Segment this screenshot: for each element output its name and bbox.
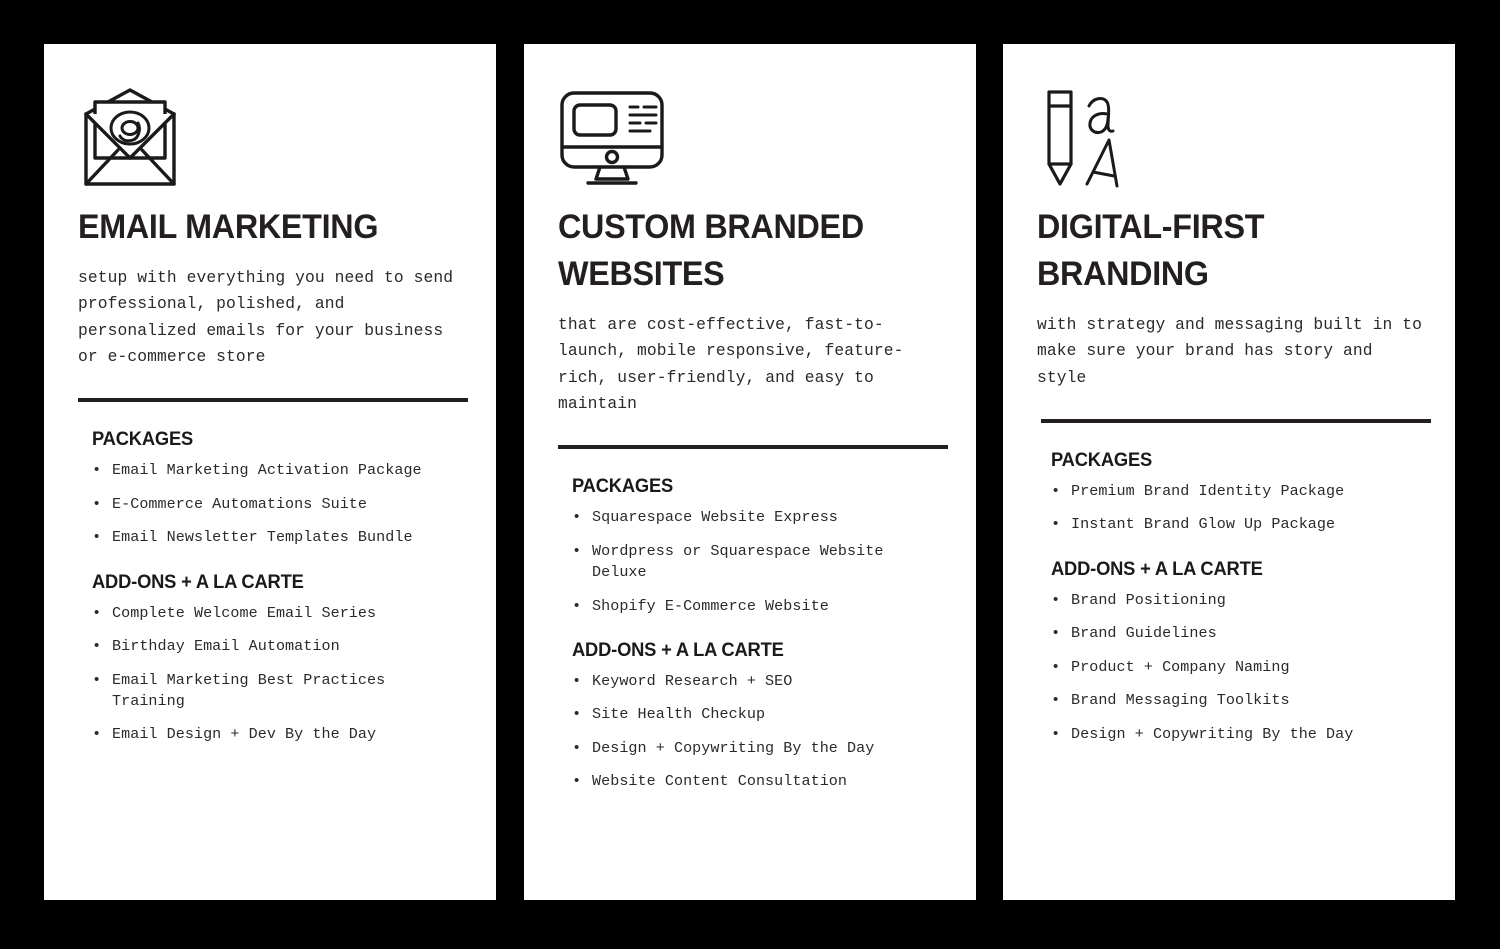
card-intro-text: that are cost-effective, fast-to-launch,… <box>558 312 946 418</box>
addons-list: Complete Welcome Email Series Birthday E… <box>92 603 466 746</box>
addons-section: ADD-ONS + A LA CARTE Brand Positioning B… <box>1037 558 1425 745</box>
card-title: EMAIL MARKETING <box>78 204 447 251</box>
packages-list: Squarespace Website Express Wordpress or… <box>572 507 946 617</box>
packages-heading: PACKAGES <box>92 428 444 451</box>
list-item[interactable]: Website Content Consultation <box>572 771 946 792</box>
card-title: DIGITAL-FIRST BRANDING <box>1037 204 1406 298</box>
card-intro-text: with strategy and messaging built in to … <box>1037 312 1425 391</box>
list-item[interactable]: Email Marketing Activation Package <box>92 460 466 481</box>
packages-list: Premium Brand Identity Package Instant B… <box>1051 481 1425 536</box>
section-divider <box>78 398 468 402</box>
addons-section: ADD-ONS + A LA CARTE Keyword Research + … <box>558 639 946 793</box>
packages-section: PACKAGES Squarespace Website Express Wor… <box>558 475 946 617</box>
list-item[interactable]: Squarespace Website Express <box>572 507 946 528</box>
list-item[interactable]: Premium Brand Identity Package <box>1051 481 1425 502</box>
list-item[interactable]: Brand Messaging Toolkits <box>1051 690 1425 711</box>
desktop-monitor-icon <box>558 86 946 190</box>
addons-heading: ADD-ONS + A LA CARTE <box>572 639 924 662</box>
list-item[interactable]: Keyword Research + SEO <box>572 671 946 692</box>
packages-section: PACKAGES Premium Brand Identity Package … <box>1037 449 1425 536</box>
section-divider <box>558 445 948 449</box>
list-item[interactable]: Brand Guidelines <box>1051 623 1425 644</box>
list-item[interactable]: Wordpress or Squarespace Website Deluxe <box>572 541 946 584</box>
packages-list: Email Marketing Activation Package E-Com… <box>92 460 466 548</box>
addons-heading: ADD-ONS + A LA CARTE <box>1051 558 1403 581</box>
list-item[interactable]: Email Newsletter Templates Bundle <box>92 527 466 548</box>
list-item[interactable]: Email Design + Dev By the Day <box>92 724 466 745</box>
list-item[interactable]: Complete Welcome Email Series <box>92 603 466 624</box>
service-card-digital-first-branding[interactable]: DIGITAL-FIRST BRANDING with strategy and… <box>1003 44 1455 900</box>
list-item[interactable]: Brand Positioning <box>1051 590 1425 611</box>
list-item[interactable]: Design + Copywriting By the Day <box>1051 724 1425 745</box>
list-item[interactable]: Birthday Email Automation <box>92 636 466 657</box>
card-content: DIGITAL-FIRST BRANDING with strategy and… <box>1003 44 1455 900</box>
list-item[interactable]: Instant Brand Glow Up Package <box>1051 514 1425 535</box>
section-divider <box>1041 419 1431 423</box>
list-item[interactable]: Shopify E-Commerce Website <box>572 596 946 617</box>
list-item[interactable]: E-Commerce Automations Suite <box>92 494 466 515</box>
list-item[interactable]: Site Health Checkup <box>572 704 946 725</box>
card-content: EMAIL MARKETING setup with everything yo… <box>44 44 496 900</box>
addons-section: ADD-ONS + A LA CARTE Complete Welcome Em… <box>78 571 466 746</box>
card-content: CUSTOM BRANDED WEBSITES that are cost-ef… <box>524 44 976 900</box>
service-card-email-marketing[interactable]: EMAIL MARKETING setup with everything yo… <box>44 44 496 900</box>
card-intro-text: setup with everything you need to send p… <box>78 265 466 371</box>
pencil-and-letters-icon <box>1037 86 1425 190</box>
addons-list: Brand Positioning Brand Guidelines Produ… <box>1051 590 1425 745</box>
packages-heading: PACKAGES <box>572 475 924 498</box>
addons-heading: ADD-ONS + A LA CARTE <box>92 571 444 594</box>
list-item[interactable]: Product + Company Naming <box>1051 657 1425 678</box>
packages-heading: PACKAGES <box>1051 449 1403 472</box>
slide-canvas: EMAIL MARKETING setup with everything yo… <box>0 0 1500 949</box>
service-card-custom-branded-websites[interactable]: CUSTOM BRANDED WEBSITES that are cost-ef… <box>524 44 976 900</box>
open-envelope-at-symbol-icon <box>78 86 466 190</box>
addons-list: Keyword Research + SEO Site Health Check… <box>572 671 946 793</box>
packages-section: PACKAGES Email Marketing Activation Pack… <box>78 428 466 548</box>
list-item[interactable]: Email Marketing Best Practices Training <box>92 670 466 713</box>
list-item[interactable]: Design + Copywriting By the Day <box>572 738 946 759</box>
card-title: CUSTOM BRANDED WEBSITES <box>558 204 927 298</box>
